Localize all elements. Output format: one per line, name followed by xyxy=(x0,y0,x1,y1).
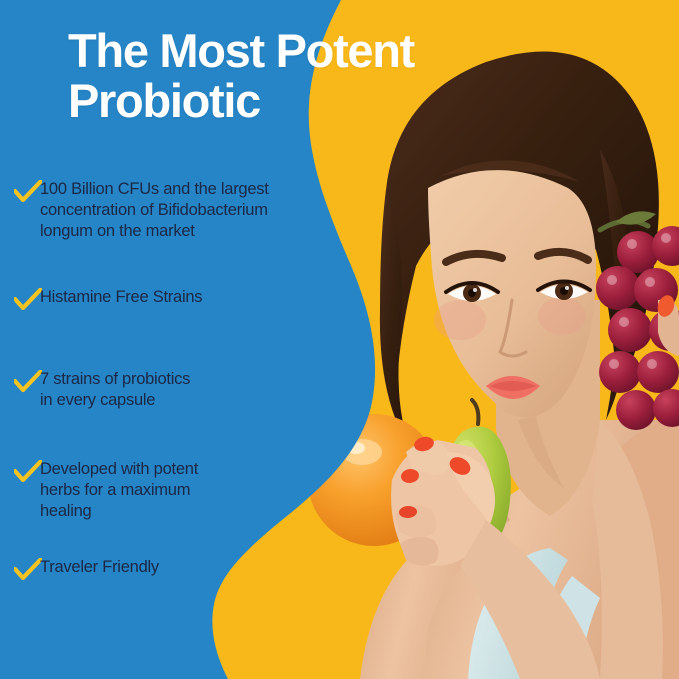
page-title: The Most Potent Probiotic xyxy=(68,26,498,126)
list-item: 7 strains of probiotics in every capsule xyxy=(0,368,190,411)
list-item: Developed with potent herbs for a maximu… xyxy=(0,458,198,522)
list-item: Traveler Friendly xyxy=(0,556,159,582)
list-item: 100 Billion CFUs and the largest concent… xyxy=(0,178,269,242)
check-icon xyxy=(0,458,40,484)
check-icon xyxy=(0,368,40,394)
list-item-label: Traveler Friendly xyxy=(40,556,159,578)
check-icon xyxy=(0,286,40,312)
list-item-label: 100 Billion CFUs and the largest concent… xyxy=(40,178,269,242)
product-banner: The Most Potent Probiotic 100 Billion CF… xyxy=(0,0,679,679)
list-item: Histamine Free Strains xyxy=(0,286,202,312)
list-item-label: Developed with potent herbs for a maximu… xyxy=(40,458,198,522)
list-item-label: 7 strains of probiotics in every capsule xyxy=(40,368,190,411)
list-item-label: Histamine Free Strains xyxy=(40,286,202,308)
check-icon xyxy=(0,556,40,582)
headline-line-2: Probiotic xyxy=(68,76,498,126)
check-icon xyxy=(0,178,40,204)
headline-line-1: The Most Potent xyxy=(68,24,414,77)
